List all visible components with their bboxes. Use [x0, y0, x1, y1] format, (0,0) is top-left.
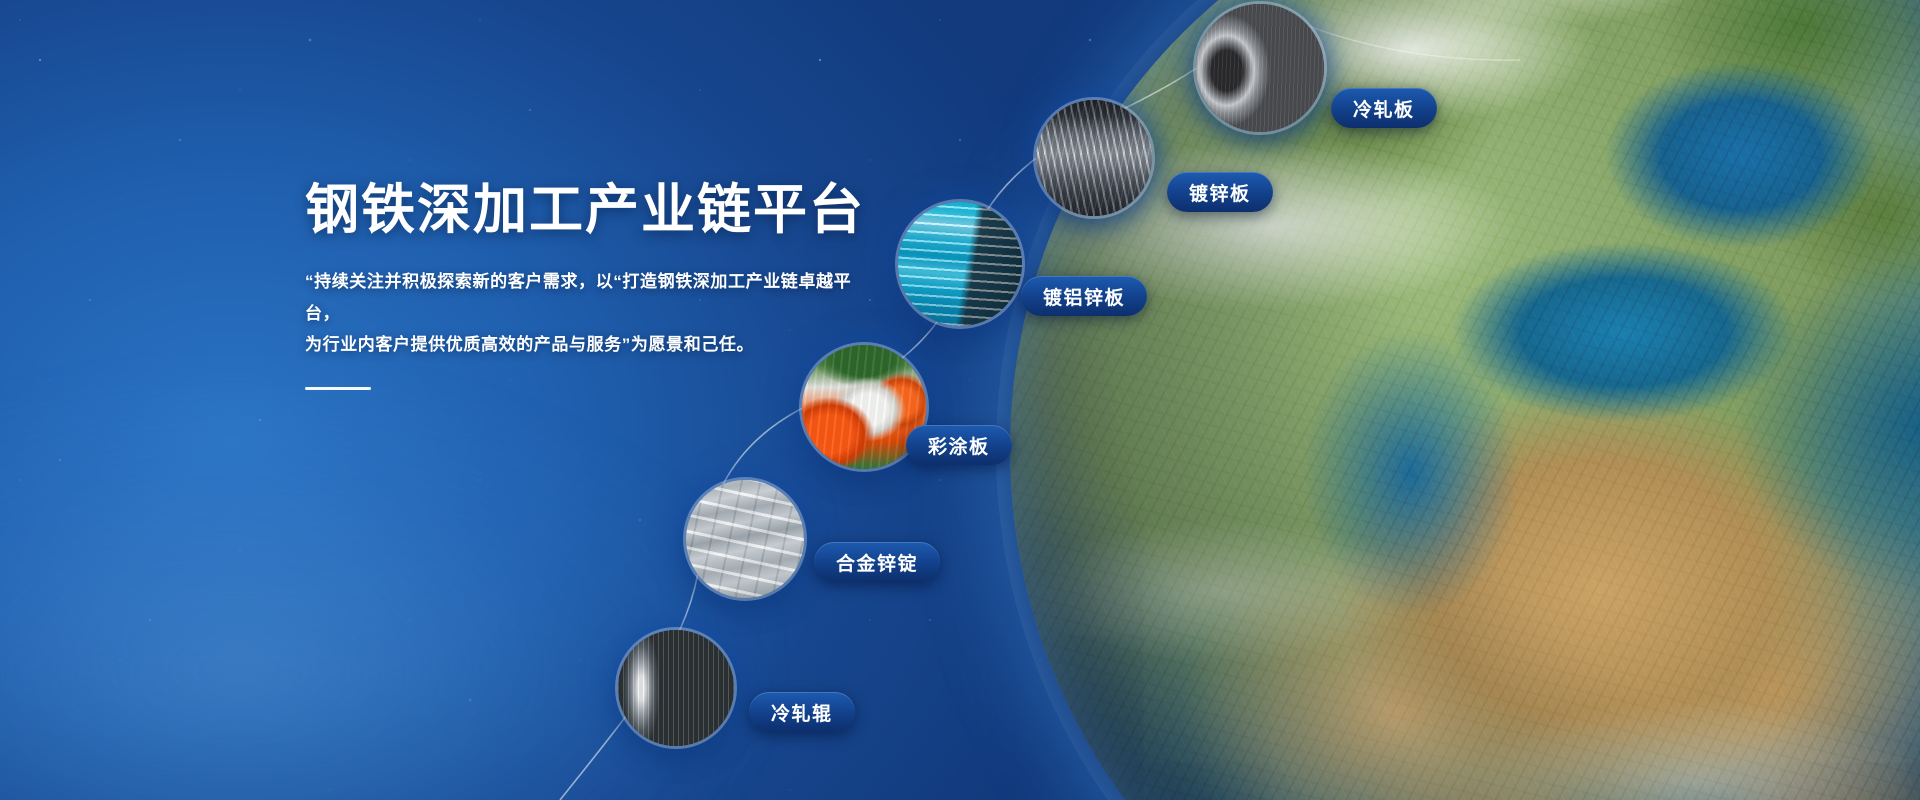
cold-rolled-plate-thumbnail[interactable] — [1196, 4, 1324, 132]
steel-coils-photo — [1196, 4, 1324, 132]
cold-rolled-plate-label[interactable]: 冷轧板 — [1331, 88, 1437, 128]
galvanized-plate-label[interactable]: 镀锌板 — [1167, 172, 1273, 212]
galvanized-plate-thumbnail[interactable] — [1036, 100, 1152, 216]
page-title: 钢铁深加工产业链平台 — [305, 180, 925, 240]
hero-copy-block: 钢铁深加工产业链平台 “持续关注并积极探索新的客户需求，以“打造钢铁深加工产业链… — [305, 180, 925, 390]
color-coated-plate-label[interactable]: 彩涂板 — [906, 425, 1012, 465]
title-divider — [305, 387, 371, 390]
hero-subtitle-line-2: 为行业内客户提供优质高效的产品与服务”为愿景和己任。 — [305, 329, 885, 360]
alloy-zinc-ingot-thumbnail[interactable] — [686, 480, 804, 598]
hero-subtitle-line-1: “持续关注并积极探索新的客户需求，以“打造钢铁深加工产业链卓越平台， — [305, 266, 885, 329]
galvanized-coil-warehouse-photo — [1036, 100, 1152, 216]
zinc-ingot-stack-photo — [686, 480, 804, 598]
hero-banner: 冷轧板 镀锌板 镀铝锌板 彩涂板 合金锌锭 冷轧辊 钢铁深加工产业链平台 — [0, 0, 1920, 800]
polished-steel-rollers-photo — [618, 630, 734, 746]
cold-rolled-roller-label[interactable]: 冷轧辊 — [749, 692, 855, 732]
galvalume-plate-label[interactable]: 镀铝锌板 — [1021, 276, 1147, 316]
hero-subtitle: “持续关注并积极探索新的客户需求，以“打造钢铁深加工产业链卓越平台， 为行业内客… — [305, 266, 885, 360]
cold-rolled-roller-thumbnail[interactable] — [618, 630, 734, 746]
alloy-zinc-ingot-label[interactable]: 合金锌锭 — [814, 542, 940, 582]
